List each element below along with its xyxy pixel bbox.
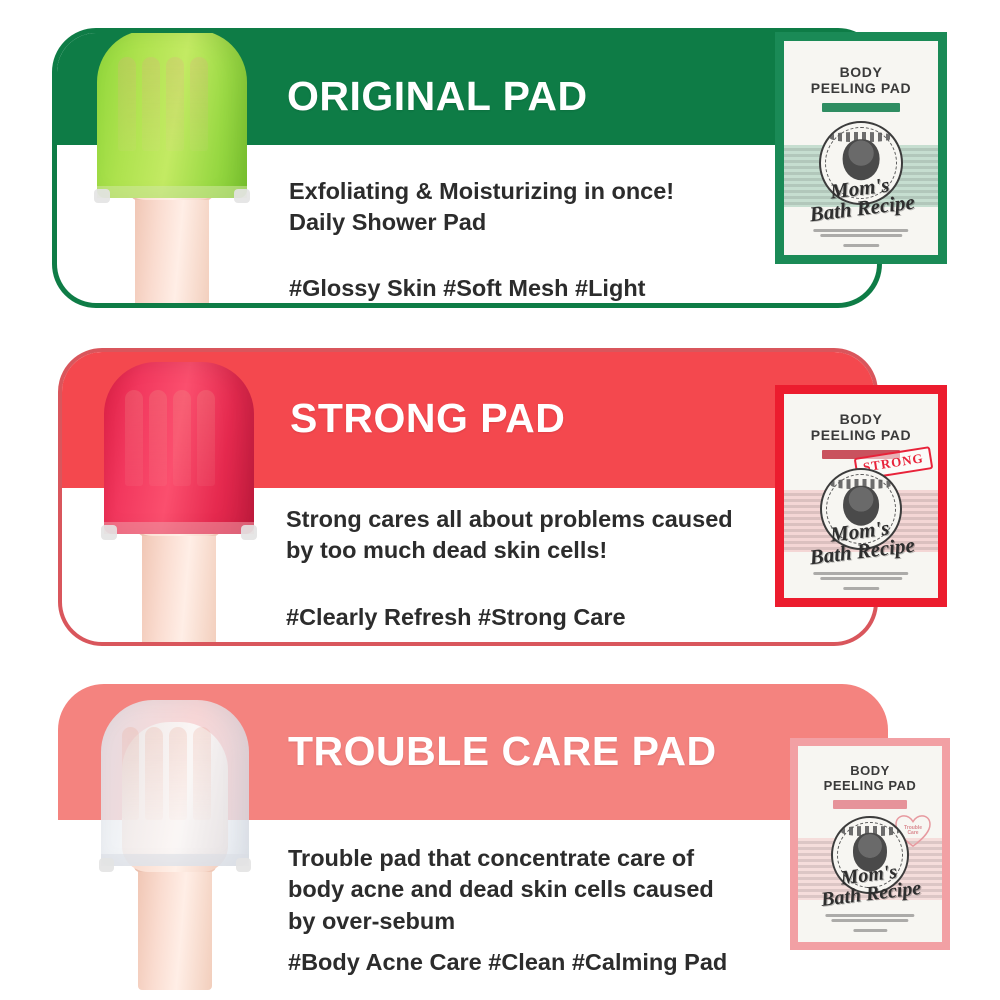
card-description-original: Exfoliating & Moisturizing in once! Dail… (289, 176, 674, 239)
logo-arc-text (830, 132, 892, 142)
package-footer-text (813, 227, 908, 249)
package-title-strong: BODY PEELING PAD (784, 412, 938, 443)
product-package-original: BODY PEELING PAD Mom's Bath Recipe (775, 32, 947, 264)
mitt-surface (104, 362, 254, 534)
package-face-original: BODY PEELING PAD Mom's Bath Recipe (784, 41, 938, 255)
card-description-strong: Strong cares all about problems caused b… (286, 504, 733, 567)
mitt-finger-shadows (122, 727, 211, 820)
mitt-cuff (104, 522, 254, 534)
package-title-original: BODY PEELING PAD (784, 65, 938, 96)
mitt-tip-left (99, 858, 114, 872)
mitt-finger-shadows (125, 390, 215, 486)
card-title-trouble: TROUBLE CARE PAD (288, 728, 717, 775)
card-title-original: ORIGINAL PAD (287, 73, 588, 120)
forearm (142, 524, 216, 642)
mitt-surface (101, 700, 249, 866)
mitt-cuff (101, 854, 249, 866)
peeling-pad-mitt (97, 33, 247, 198)
mitt-tip-right (236, 858, 251, 872)
card-tags-original: #Glossy Skin #Soft Mesh #Light (289, 275, 646, 302)
mitt-tip-right (234, 189, 250, 203)
card-tags-strong: #Clearly Refresh #Strong Care (286, 602, 626, 633)
mitt-surface (97, 33, 247, 198)
card-title-strong: STRONG PAD (290, 395, 565, 442)
package-subtitle-bar (833, 800, 907, 809)
card-clip-strong: STRONG PAD (62, 352, 874, 642)
package-subtitle-bar (822, 103, 900, 112)
package-footer-text (813, 570, 908, 592)
mitt-finger-shadows (118, 57, 208, 151)
logo-arc-text (841, 826, 899, 836)
card-tags-trouble: #Body Acne Care #Clean #Calming Pad (288, 947, 727, 978)
peeling-pad-mitt (104, 362, 254, 534)
hand-with-pad-original (67, 33, 277, 303)
mitt-tip-right (241, 525, 257, 540)
forearm (135, 188, 209, 303)
peeling-pad-mitt (101, 700, 249, 866)
package-face-strong: BODY PEELING PAD STRONG Mom's Bath Recip… (784, 394, 938, 598)
mitt-tip-left (101, 525, 117, 540)
mitt-cuff (97, 186, 247, 198)
package-footer-text (825, 912, 914, 934)
hand-with-pad-trouble (70, 690, 280, 990)
package-title-trouble: BODY PEELING PAD (798, 764, 942, 793)
infographic-page: ORIGINAL PAD Exfoliating & Moisturizing … (0, 0, 1000, 1000)
logo-arc-text (831, 479, 892, 489)
product-package-strong: BODY PEELING PAD STRONG Mom's Bath Recip… (775, 385, 947, 607)
package-face-trouble: BODY PEELING PAD Trouble Care Mom's Bath… (798, 746, 942, 942)
mitt-tip-left (94, 189, 110, 203)
card-clip-original: ORIGINAL PAD Exfoliating & Moisturizing … (57, 33, 877, 303)
hand-with-pad-strong (74, 356, 284, 642)
card-description-trouble: Trouble pad that concentrate care of bod… (288, 843, 714, 937)
product-card-original: ORIGINAL PAD Exfoliating & Moisturizing … (52, 28, 882, 308)
forearm (138, 860, 212, 990)
product-package-trouble: BODY PEELING PAD Trouble Care Mom's Bath… (790, 738, 950, 950)
